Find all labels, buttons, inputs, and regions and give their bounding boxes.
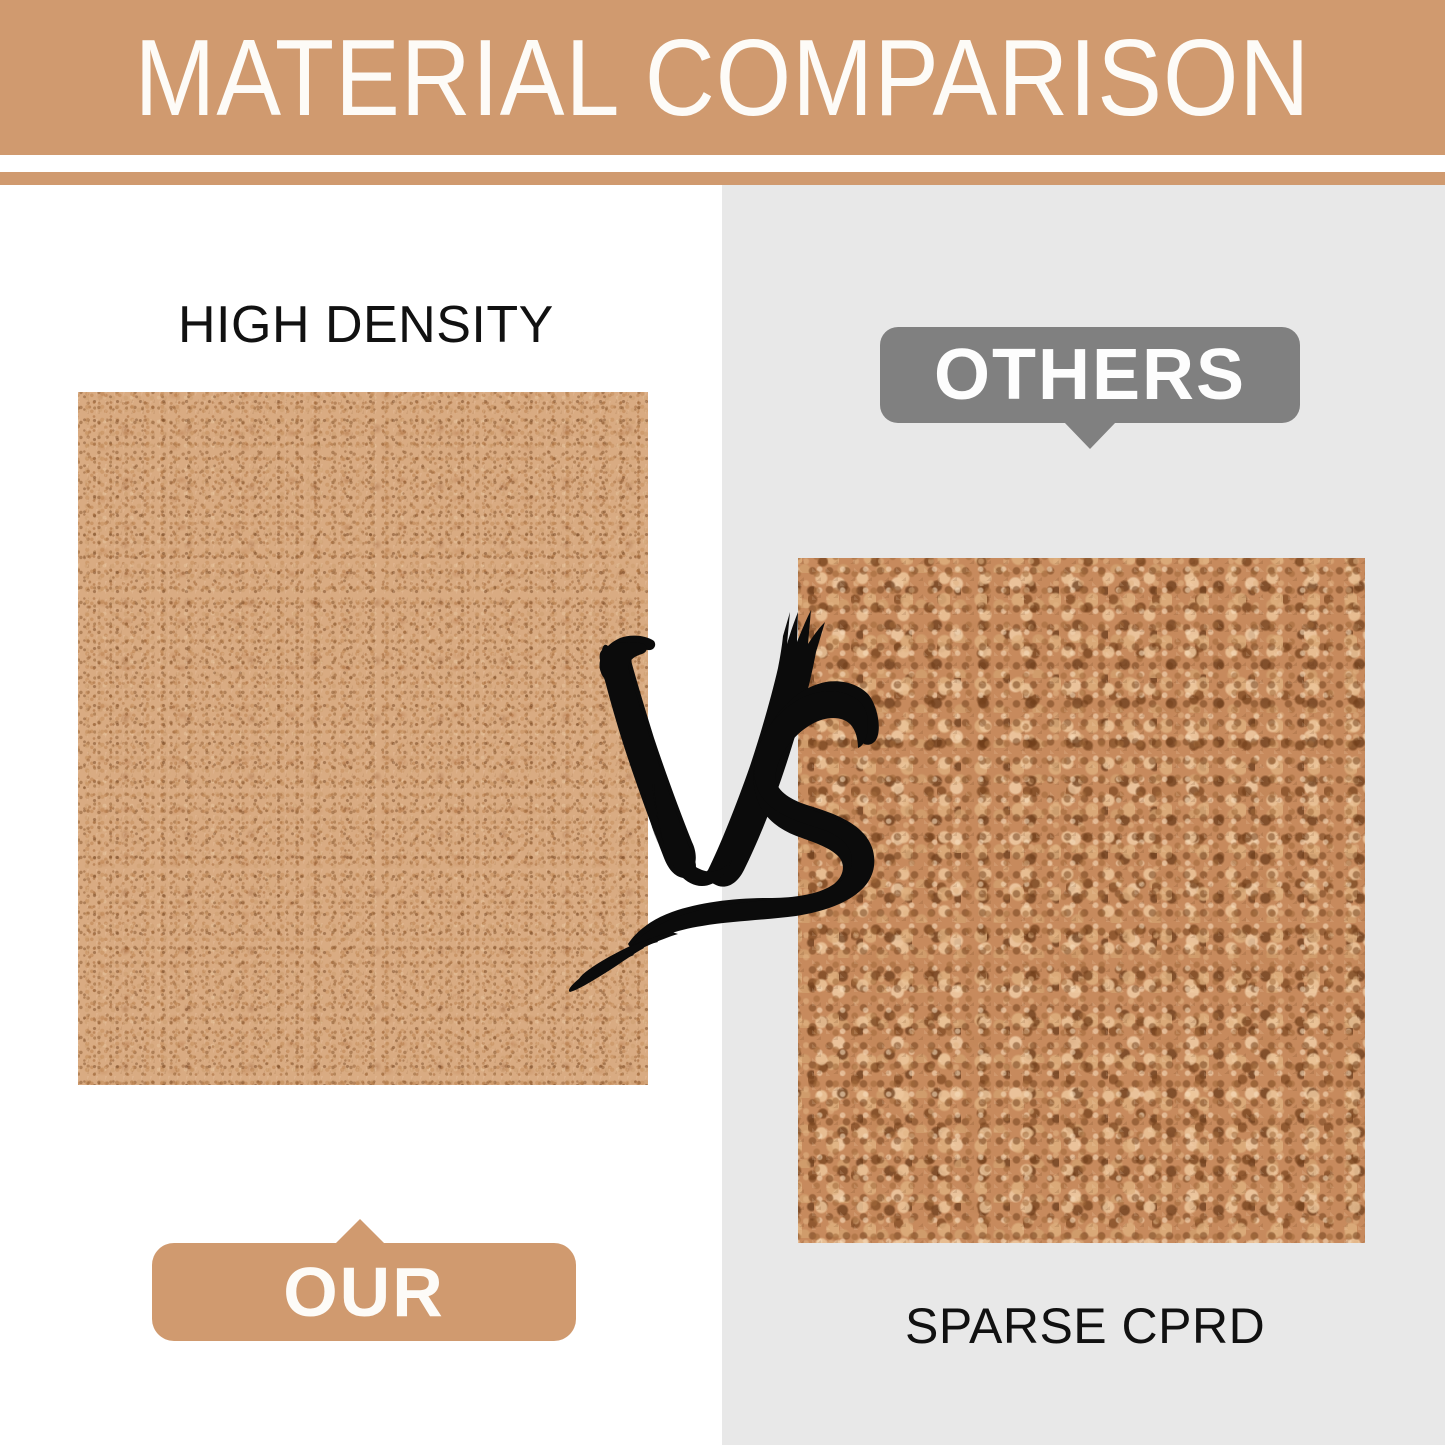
header-accent-stripe [0, 172, 1445, 185]
high-density-cork-swatch [78, 392, 648, 1085]
header-banner: MATERIAL COMPARISON [0, 0, 1445, 155]
our-badge-pointer-icon [334, 1219, 386, 1245]
our-badge-label: OUR [283, 1257, 445, 1327]
others-badge-label: OTHERS [934, 339, 1246, 411]
vs-brush-icon [568, 598, 898, 1008]
others-badge: OTHERS [880, 327, 1300, 423]
left-panel-heading: HIGH DENSITY [178, 295, 554, 355]
page-title: MATERIAL COMPARISON [135, 23, 1311, 132]
cork-grain-layer-3 [78, 392, 648, 1085]
our-badge: OUR [152, 1243, 576, 1341]
right-panel-caption: SPARSE CPRD [905, 1297, 1265, 1355]
others-badge-pointer-icon [1064, 422, 1116, 449]
